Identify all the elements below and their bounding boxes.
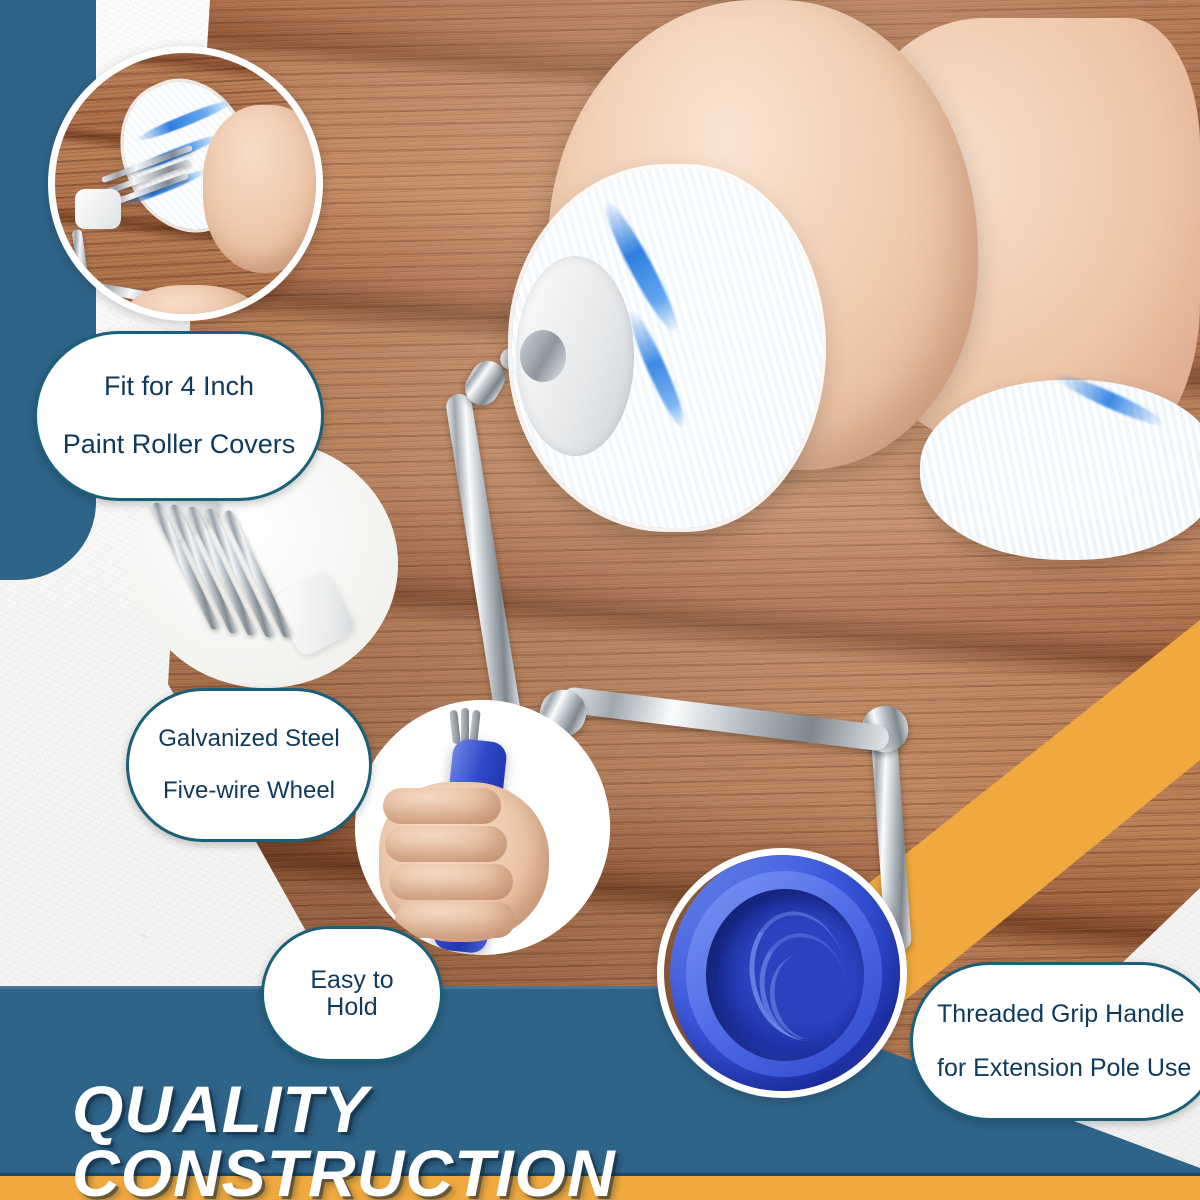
callout-galvanized-steel-five-wire-wheel: Galvanized Steel Five-wire Wheel (126, 688, 372, 842)
callout-wheel-line-2: Five-wire Wheel (151, 778, 347, 804)
callout-threaded-line-2: for Extension Pole Use (937, 1055, 1195, 1082)
inset-hand-on-handle (355, 700, 610, 955)
inset-end-cap (75, 189, 121, 229)
headline-line-2: CONSTRUCTION (72, 1141, 616, 1200)
inset-roller-cover-in-hand (48, 46, 323, 321)
inset-threaded-cap (657, 848, 907, 1098)
inset-finger-3 (389, 864, 513, 900)
callout-fit-line-1: Fit for 4 Inch (59, 372, 299, 401)
callout-easy-to-hold: Easy to Hold (261, 926, 443, 1062)
inset-finger-4 (395, 902, 515, 938)
inset-finger-1 (383, 788, 501, 824)
infographic-canvas: QUALITY CONSTRUCTION Fit for 4 Inch Pain… (0, 0, 1200, 1200)
callout-fit-line-2: Paint Roller Covers (59, 430, 299, 459)
inset-finger-2 (385, 826, 507, 862)
callout-threaded-line-1: Threaded Grip Handle (937, 1001, 1195, 1028)
inset-hand (203, 105, 323, 273)
callout-wheel-line-1: Galvanized Steel (151, 726, 347, 752)
callout-fit-for-4-inch: Fit for 4 Inch Paint Roller Covers (34, 331, 324, 501)
callout-threaded-grip-handle: Threaded Grip Handle for Extension Pole … (910, 962, 1200, 1121)
headline-line-1: QUALITY (72, 1072, 369, 1146)
callout-hold-line-1: Easy to Hold (282, 967, 422, 1021)
